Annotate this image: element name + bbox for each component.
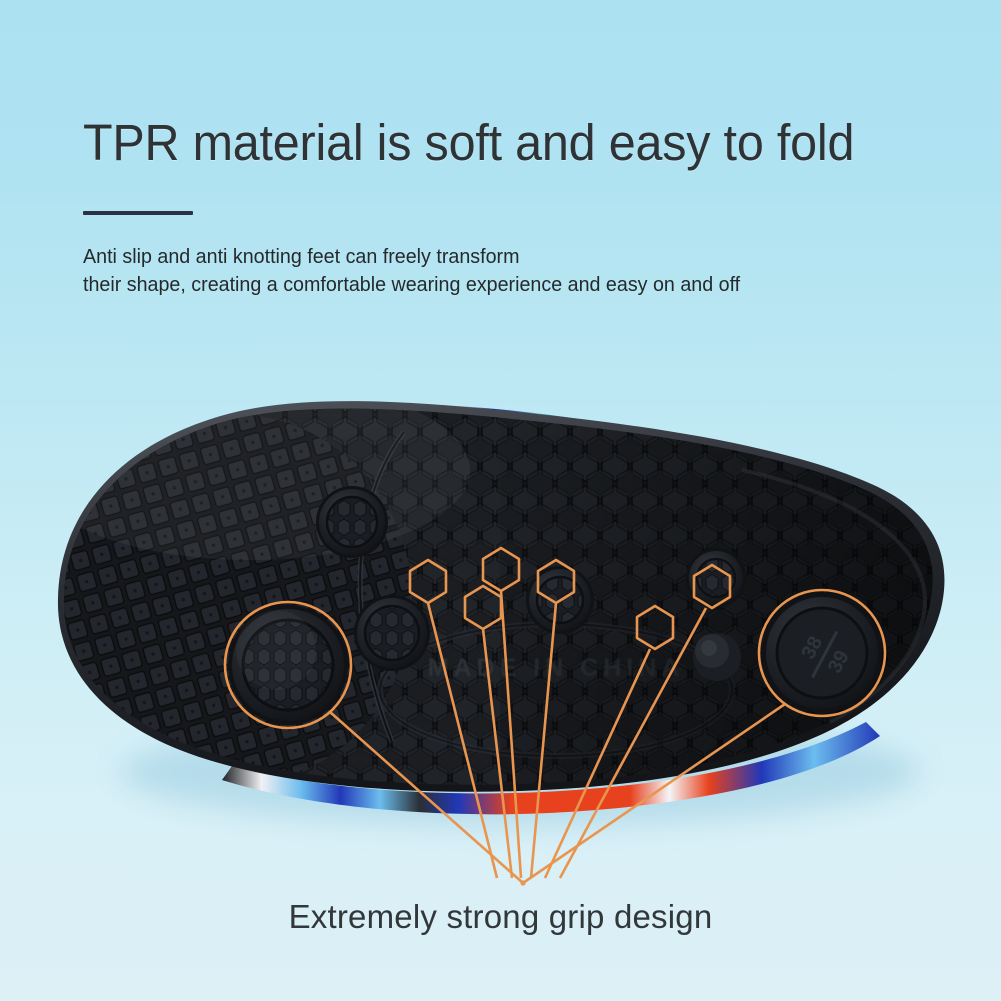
grip-pad-heel-right: 38 39 [762, 593, 882, 713]
grip-dome-nub [693, 633, 741, 681]
shoe-sole-illustration: MADE IN CHINA [0, 0, 1001, 1001]
grip-pad-upper-mid [316, 486, 388, 558]
grip-pad-mid [354, 595, 430, 671]
product-photo: MADE IN CHINA [0, 0, 1001, 1001]
callout-converge-point [520, 880, 525, 885]
grip-pad-toe-left [228, 605, 348, 725]
grip-caption: Extremely strong grip design [0, 898, 1001, 936]
promo-image: TPR material is soft and easy to fold An… [0, 0, 1001, 1001]
